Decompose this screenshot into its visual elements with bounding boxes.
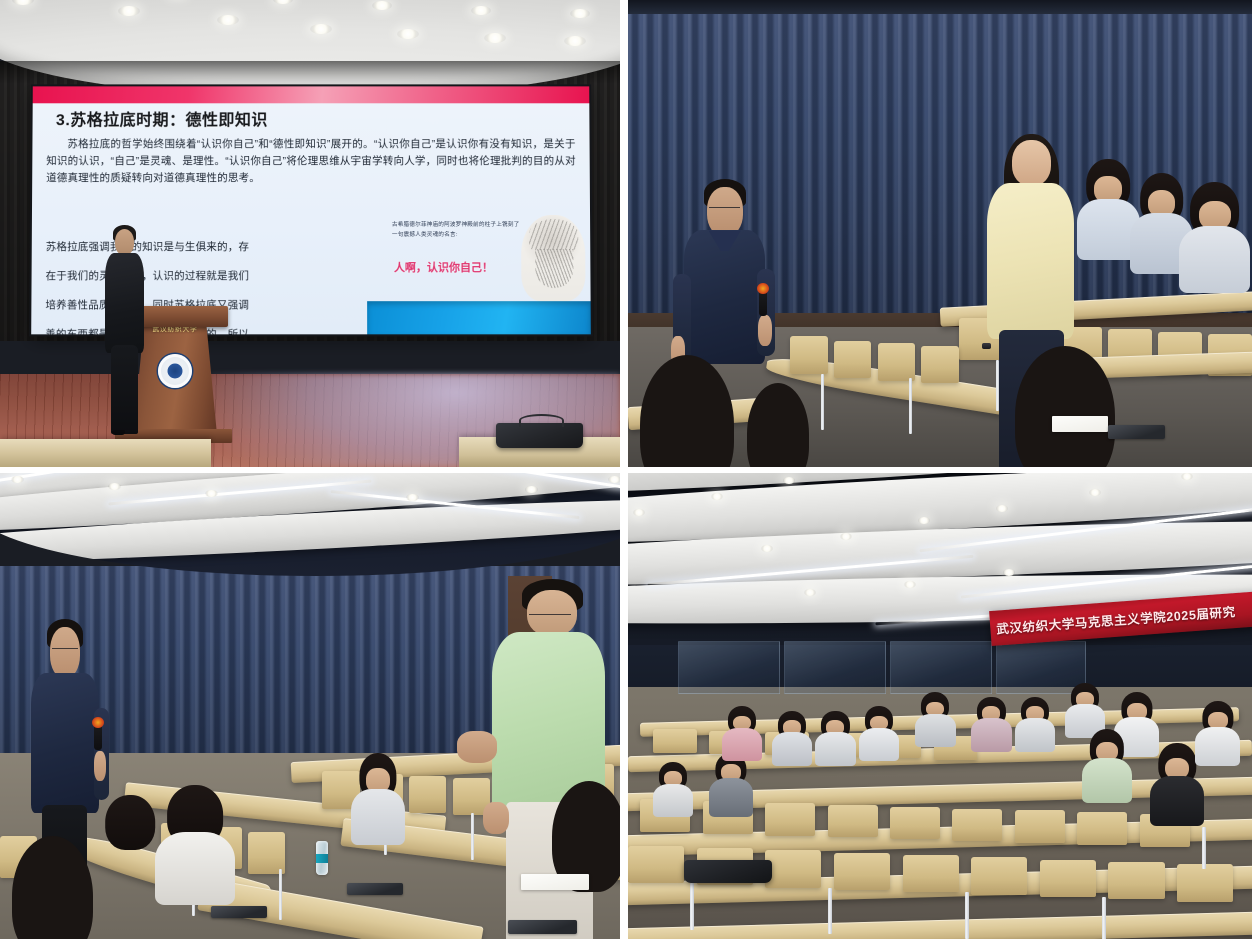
seat-back (971, 857, 1027, 894)
recessed-downlight (783, 477, 795, 484)
seated-student (1158, 743, 1195, 785)
recessed-downlight (608, 476, 620, 483)
recessed-downlight (372, 1, 392, 10)
seat-back (248, 832, 285, 874)
seat-back (1040, 860, 1096, 897)
student-torso (1179, 226, 1251, 293)
recessed-downlight (11, 476, 24, 483)
seat-back (790, 336, 827, 373)
photo-collage: 3.苏格拉底时期：德性即知识 苏格拉底的哲学始终围绕着“认识你自己”和“德性即知… (0, 0, 1252, 939)
slide-header-band (33, 87, 590, 104)
recessed-downlight (471, 6, 491, 15)
recessed-downlight (217, 15, 239, 25)
seated-student (977, 697, 1005, 725)
seated-student (1087, 159, 1131, 210)
recessed-downlight (205, 490, 218, 497)
presenter-figure (104, 229, 145, 430)
student-head (1012, 140, 1051, 186)
seat-back (1015, 810, 1065, 843)
glasses-icon (709, 207, 740, 216)
seat-post (279, 869, 282, 920)
student-torso (772, 732, 812, 766)
seated-student (659, 762, 687, 790)
student-torso (722, 728, 762, 762)
seated-student (921, 692, 949, 720)
glasses-icon (529, 614, 571, 626)
student-torso (709, 778, 754, 817)
seat-back (765, 803, 815, 836)
student-torso (1082, 758, 1131, 803)
slide-inset-quote: 人啊，认识你自己！ (394, 259, 493, 275)
recessed-downlight (904, 581, 916, 588)
curtain-rail (628, 0, 1252, 14)
photo-student-standing-question (628, 0, 1252, 467)
presenter-shoe (112, 430, 124, 434)
bust-hair (529, 220, 578, 251)
seat-back (903, 855, 959, 892)
photo-lecturer-in-aisle (0, 473, 620, 939)
seated-student (1202, 701, 1233, 734)
presenter-torso (105, 253, 143, 353)
seat-post (828, 888, 832, 935)
seat-post (471, 813, 474, 860)
student-head (527, 590, 576, 636)
rear-glass-partition (678, 641, 780, 694)
wall-shadow (0, 61, 620, 84)
smartphone (211, 906, 267, 918)
microphone-icon (759, 290, 767, 316)
laptop-bag (684, 860, 771, 883)
seat-back (921, 346, 958, 383)
glasses-icon (52, 648, 78, 657)
notebook (521, 874, 589, 890)
smartphone (1108, 425, 1164, 439)
wristwatch-icon (982, 343, 991, 349)
seated-student (1190, 182, 1240, 238)
student-torso (915, 714, 955, 748)
rear-glass-partition (890, 641, 992, 694)
presenter-hand (758, 315, 772, 346)
presenter-polo-shirt (31, 673, 99, 814)
recessed-downlight (484, 33, 506, 43)
presenter-hand (94, 751, 106, 781)
seat-back (409, 776, 446, 813)
recessed-downlight (918, 517, 930, 524)
presenter-legs (111, 345, 138, 433)
water-bottle (316, 841, 328, 875)
slide-paragraph-line: 善的东西都是有益的，知识是有益的，所以 (45, 326, 370, 334)
microphone-icon (94, 724, 102, 750)
student-torso (1015, 718, 1055, 752)
seated-student (778, 711, 806, 739)
seat-back (628, 846, 684, 883)
student-torso (155, 832, 235, 905)
photo-presenter-at-podium: 3.苏格拉底时期：德性即知识 苏格拉底的哲学始终围绕着“认识你自己”和“德性即知… (0, 0, 620, 467)
seated-student (821, 711, 849, 739)
recessed-downlight (118, 6, 140, 16)
seated-student (360, 753, 397, 800)
seated-student (865, 706, 893, 734)
photo-lecture-hall-wide-view: 武汉纺织大学马克思主义学院2025届研究 (628, 473, 1252, 939)
rear-glass-partition (784, 641, 886, 694)
slide-paragraph-line: 在于我们的灵魂之中，认识的过程就是我们 (46, 267, 370, 286)
recessed-downlight (397, 29, 419, 39)
student-torso (653, 784, 693, 818)
seat-post (1102, 897, 1106, 939)
student-torso (815, 732, 855, 766)
seat-post (1202, 827, 1206, 869)
seat-back (890, 807, 940, 840)
university-seal-icon (158, 354, 192, 388)
seated-student (1021, 697, 1049, 725)
seated-student (105, 795, 155, 851)
slide-paragraph-text: 苏格拉底的哲学始终围绕着“认识你自己”和“德性即知识”展开的。“认识你自己”是认… (46, 136, 576, 187)
laptop-bag (496, 423, 583, 449)
slide-inset-note: 古希腊德尔菲神庙的阿波罗神殿前的柱子上镌刻了一句震撼人类灵魂的名言: (392, 220, 521, 241)
seated-student (1090, 729, 1124, 766)
seat-post (690, 883, 694, 930)
socrates-bust-sketch-icon (521, 216, 586, 302)
student-hand (483, 802, 509, 834)
student-torso (1150, 776, 1204, 826)
ceiling (0, 473, 620, 576)
seat-back (878, 343, 915, 380)
recessed-downlight (525, 486, 538, 493)
seated-student (1071, 683, 1099, 711)
student-head (105, 795, 155, 851)
recessed-downlight (1089, 489, 1101, 496)
seat-back (653, 729, 697, 752)
smartphone (508, 920, 576, 934)
student-top (987, 183, 1073, 340)
seat-back (1077, 812, 1127, 845)
seat-back (834, 341, 871, 378)
podium: 武汉纺织大学 (133, 313, 217, 434)
seated-student (1121, 692, 1152, 725)
bust-beard (536, 250, 574, 289)
slide-inset-block: 古希腊德尔菲神庙的阿波罗神殿前的柱子上镌刻了一句震撼人类灵魂的名言: 人啊，认识… (392, 220, 582, 294)
seat-back (1108, 862, 1164, 899)
seated-student (728, 706, 756, 734)
seat-post (965, 892, 969, 939)
student-torso (1195, 727, 1240, 766)
presenter-head (115, 229, 135, 255)
slide-body-paragraph-1: 苏格拉底的哲学始终围绕着“认识你自己”和“德性即知识”展开的。“认识你自己”是认… (46, 136, 576, 188)
seat-back (828, 805, 878, 838)
seat-back (834, 853, 890, 890)
student-torso (971, 718, 1011, 752)
seated-student (1140, 173, 1184, 224)
seat-back (1177, 864, 1233, 901)
seat-post (909, 378, 912, 434)
seat-back (952, 809, 1002, 842)
slide-blue-accent-bar (367, 302, 591, 334)
seat-back (765, 850, 821, 887)
student-gesturing-hand (457, 731, 497, 763)
recessed-downlight (840, 533, 852, 540)
smartphone (347, 883, 403, 895)
student-torso (859, 728, 899, 762)
student-torso (351, 789, 405, 845)
seat-post (821, 374, 824, 430)
slide-title: 3.苏格拉底时期：德性即知识 (56, 106, 268, 130)
slide-paragraph-line: 苏格拉底强调我们的知识是与生俱来的，存 (46, 238, 370, 257)
notebook (1052, 416, 1108, 432)
front-desk-left (0, 439, 211, 467)
seated-student (167, 785, 223, 846)
